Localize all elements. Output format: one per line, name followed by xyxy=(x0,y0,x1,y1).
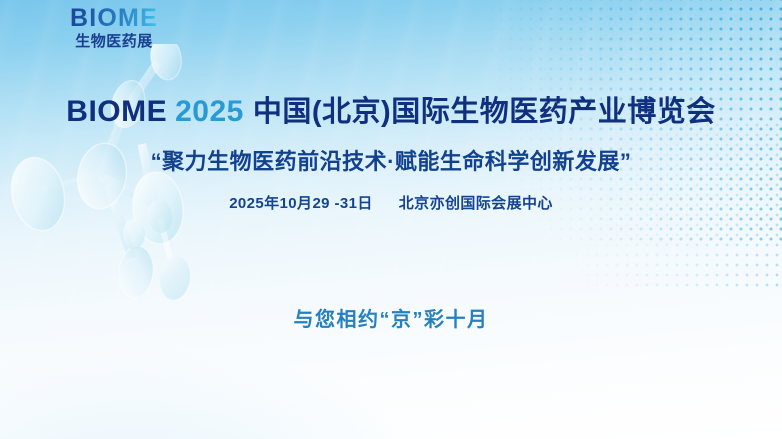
tagline: 与您相约“京”彩十月 xyxy=(0,303,782,332)
molecule-icon xyxy=(0,44,232,314)
bottom-glow-overlay xyxy=(0,0,782,439)
event-date: 2025年10月29 -31日 xyxy=(229,195,373,212)
date-venue-line: 2025年10月29 -31日北京亦创国际会展中心 xyxy=(0,192,782,213)
event-venue: 北京亦创国际会展中心 xyxy=(399,195,553,212)
molecule-small-icon xyxy=(120,196,230,316)
logo-wordmark: BIOME xyxy=(48,6,180,31)
diagonal-sheen-overlay xyxy=(0,0,782,439)
logo-chinese-subtitle: 生物医药展 xyxy=(48,34,180,49)
headline-brand: BIOME xyxy=(66,95,167,128)
biome-logo: BIOME 生物医药展 xyxy=(48,6,180,49)
headline-year: 2025 xyxy=(175,95,244,128)
subtitle-slogan: “聚力生物医药前沿技术·赋能生命科学创新发展” xyxy=(0,144,782,176)
poster-banner: BIOME 生物医药展 BIOME2025中国(北京)国际生物医药产业博览会 “… xyxy=(0,0,782,439)
page-title: BIOME2025中国(北京)国际生物医药产业博览会 xyxy=(0,88,782,130)
headline-chinese: 中国(北京)国际生物医药产业博览会 xyxy=(253,96,716,128)
